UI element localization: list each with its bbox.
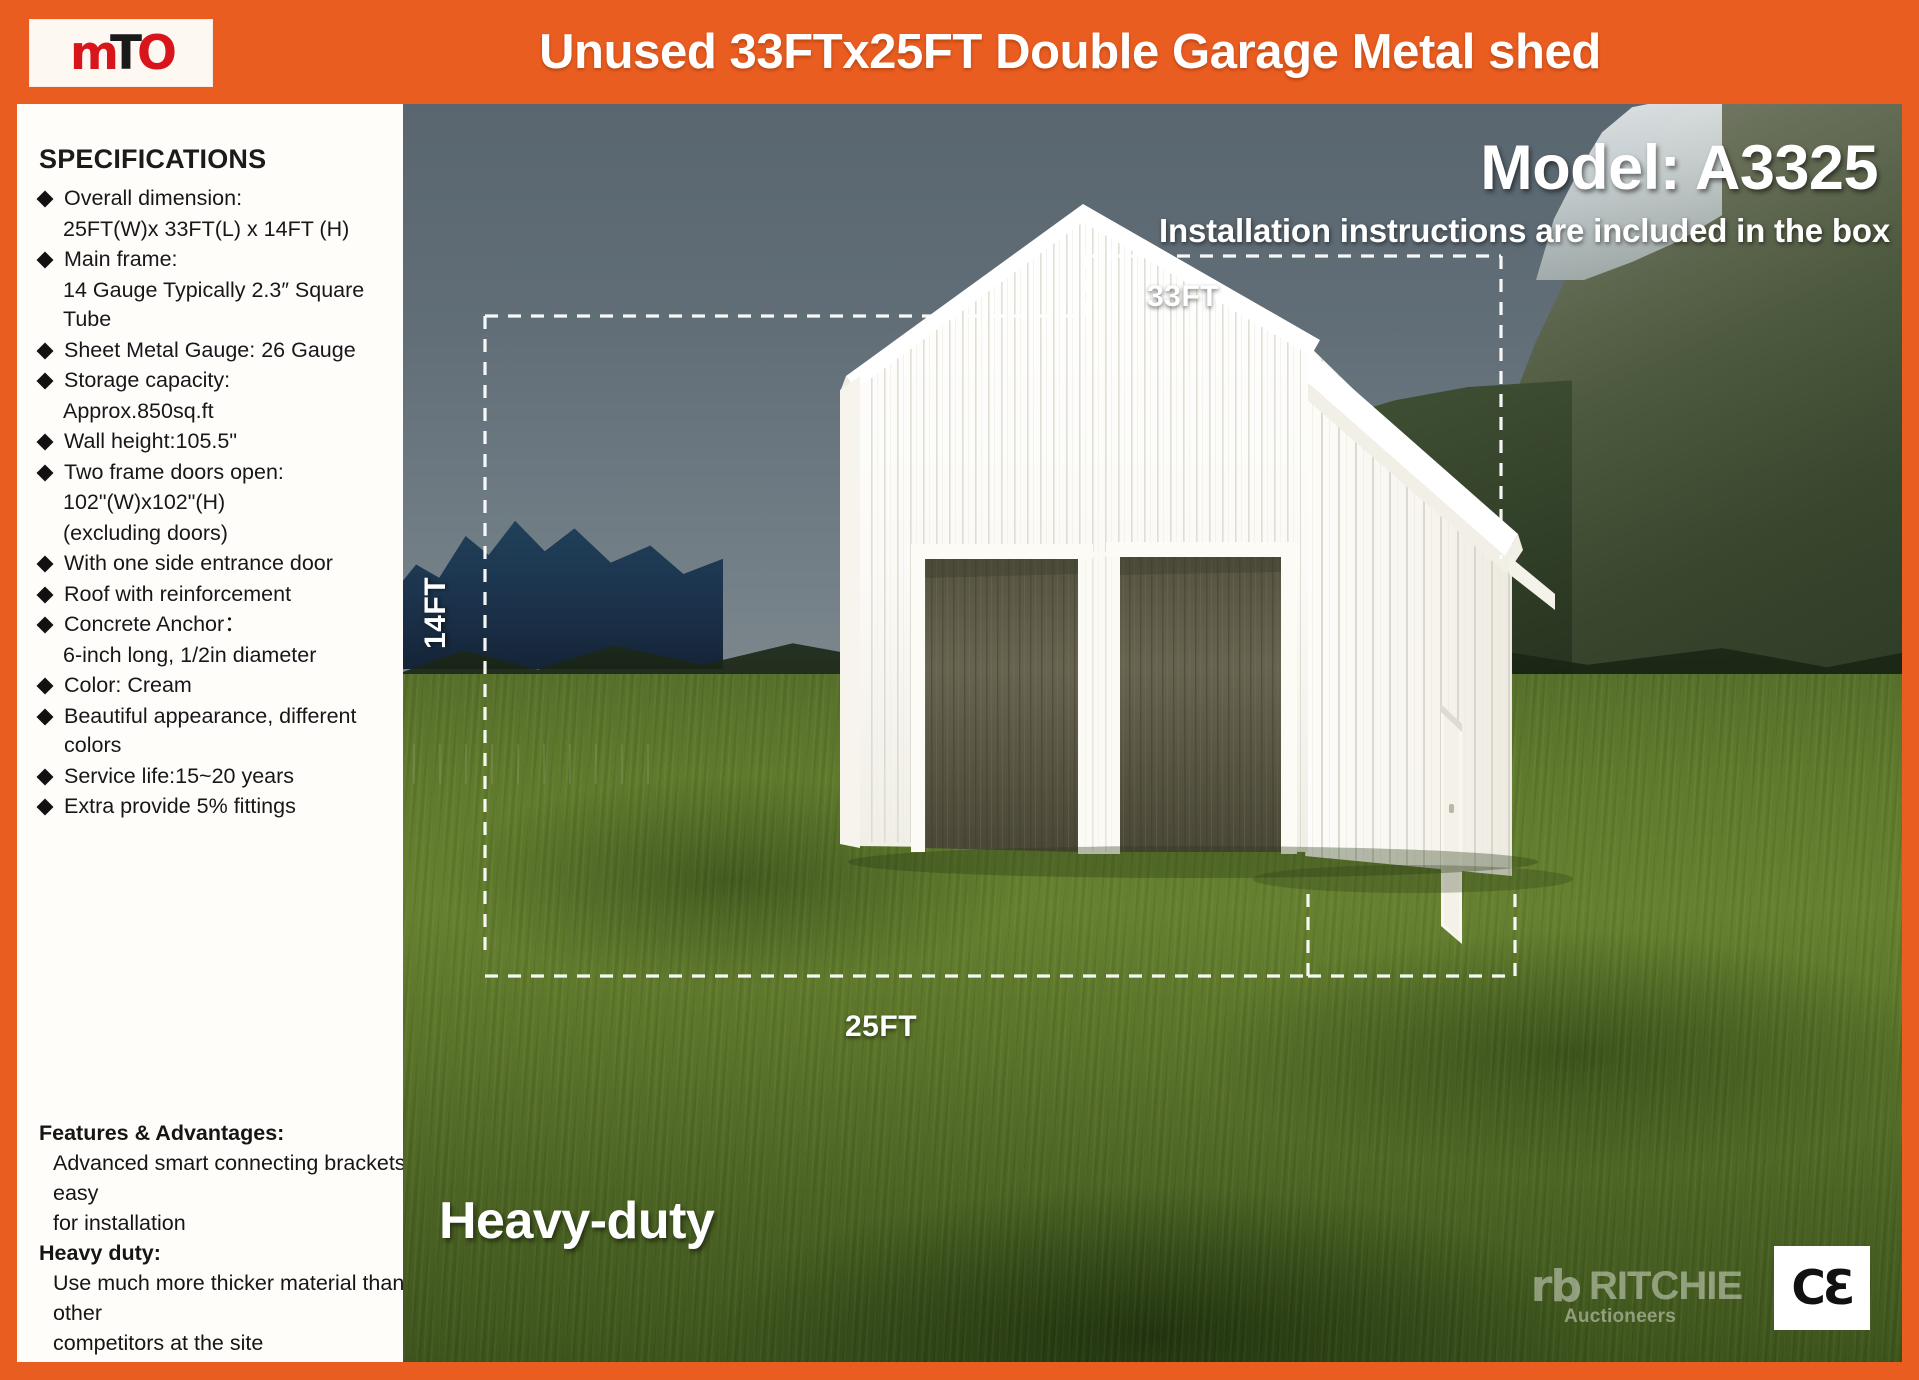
dimension-label-width: 25FT: [845, 1010, 917, 1044]
bullet-diamond-icon: [37, 678, 54, 695]
installation-note: Installation instructions are included i…: [1159, 212, 1890, 250]
spec-item: Extra provide 5% fittings: [39, 792, 403, 822]
heavy-duty-text-line: Use much more thicker material than othe…: [53, 1268, 403, 1328]
watermark-row: rb RITCHIE: [1531, 1264, 1742, 1309]
bullet-diamond-icon: [37, 586, 54, 603]
heavy-duty-tag: Heavy-duty: [439, 1191, 714, 1251]
spec-item: Two frame doors open:: [39, 458, 403, 488]
product-poster: mTO Unused 33FTx25FT Double Garage Metal…: [0, 0, 1919, 1380]
bullet-diamond-icon: [37, 464, 54, 481]
spec-item: Service life:15~20 years: [39, 762, 403, 792]
product-photo: 33FT 25FT 14FT Model: A3325 Installation…: [403, 104, 1902, 1362]
spec-item: Beautiful appearance, different colors: [39, 702, 403, 761]
bullet-diamond-icon: [37, 342, 54, 359]
spec-label: Beautiful appearance, different colors: [64, 704, 356, 758]
heavy-duty-heading: Heavy duty:: [39, 1238, 403, 1268]
spec-label: Overall dimension:: [64, 186, 242, 210]
spec-label: Wall height:105.5": [64, 429, 237, 453]
bullet-diamond-icon: [37, 708, 54, 725]
spec-subline: Approx.850sq.ft: [63, 397, 403, 427]
bullet-diamond-icon: [37, 252, 54, 269]
spec-subline: 102"(W)x102"(H): [63, 488, 403, 518]
brand-logo: mTO: [29, 19, 213, 87]
spec-item: With one side entrance door: [39, 549, 403, 579]
spec-label: Color: Cream: [64, 673, 192, 697]
bullet-diamond-icon: [37, 617, 54, 634]
ce-mark-badge: CƐ: [1774, 1246, 1870, 1330]
spec-subline: 14 Gauge Typically 2.3″ Square Tube: [63, 276, 403, 335]
watermark-subtitle: Auctioneers: [1564, 1306, 1676, 1328]
logo-letter-t: T: [110, 30, 137, 77]
logo-letter-m: m: [70, 30, 114, 77]
spec-subline: 6-inch long, 1/2in diameter: [63, 641, 403, 671]
spec-label: Extra provide 5% fittings: [64, 794, 296, 818]
spec-item: Roof with reinforcement: [39, 580, 403, 610]
spec-label: Sheet Metal Gauge: 26 Gauge: [64, 338, 356, 362]
spec-item: Storage capacity:: [39, 366, 403, 396]
specifications-heading: SPECIFICATIONS: [39, 144, 403, 175]
dimension-label-length: 33FT: [1147, 280, 1219, 314]
spec-item: Main frame:: [39, 245, 403, 275]
spec-label: Two frame doors open:: [64, 460, 284, 484]
mito-logo-glyph: mTO: [70, 30, 172, 77]
logo-letter-o: O: [137, 30, 172, 77]
page-title: Unused 33FTx25FT Double Garage Metal she…: [240, 12, 1900, 92]
features-text-line: Advanced smart connecting brackets easy: [53, 1148, 403, 1208]
model-label: Model: A3325: [1480, 132, 1878, 204]
watermark-name: RITCHIE: [1589, 1264, 1742, 1309]
features-advantages-block: Features & Advantages: Advanced smart co…: [39, 1118, 403, 1358]
ritchie-bros-watermark: rb RITCHIE Auctioneers: [1531, 1264, 1742, 1328]
spec-item: Sheet Metal Gauge: 26 Gauge: [39, 336, 403, 366]
poster-header: mTO Unused 33FTx25FT Double Garage Metal…: [0, 0, 1919, 104]
bullet-diamond-icon: [37, 373, 54, 390]
bullet-diamond-icon: [37, 556, 54, 573]
spec-label: Main frame:: [64, 247, 178, 271]
spec-item: Wall height:105.5": [39, 427, 403, 457]
bullet-diamond-icon: [37, 799, 54, 816]
spec-subline: (excluding doors): [63, 519, 403, 549]
features-heading: Features & Advantages:: [39, 1118, 403, 1148]
features-text-line: for installation: [53, 1208, 403, 1238]
spec-label: With one side entrance door: [64, 551, 333, 575]
bullet-diamond-icon: [37, 768, 54, 785]
spec-label: Storage capacity:: [64, 368, 230, 392]
spec-label: Roof with reinforcement: [64, 582, 291, 606]
bullet-diamond-icon: [37, 191, 54, 208]
rb-logo-icon: rb: [1531, 1267, 1580, 1307]
spec-label: Service life:15~20 years: [64, 764, 294, 788]
spec-label: Concrete Anchor：: [64, 612, 246, 636]
spec-item: Color: Cream: [39, 671, 403, 701]
specifications-panel: SPECIFICATIONS Overall dimension: 25FT(W…: [17, 104, 403, 1362]
dimension-label-height: 14FT: [419, 577, 453, 649]
spec-item: Concrete Anchor：: [39, 610, 403, 640]
heavy-duty-text-line: competitors at the site: [53, 1328, 403, 1358]
spec-item: Overall dimension:: [39, 184, 403, 214]
bullet-diamond-icon: [37, 434, 54, 451]
spec-subline: 25FT(W)x 33FT(L) x 14FT (H): [63, 215, 403, 245]
